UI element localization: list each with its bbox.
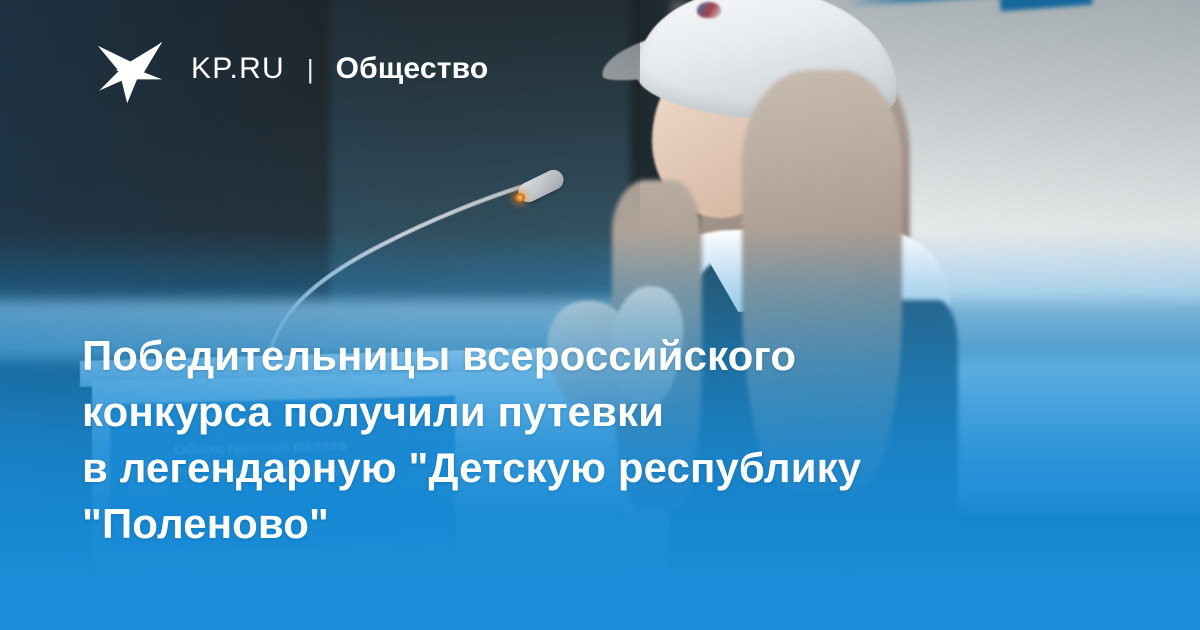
brand-header: KP.RU | Общество [95, 36, 488, 106]
social-share-card: Общественная палата Российской Федерации [0, 0, 1200, 630]
headline-line-1: Победительницы всероссийского [82, 328, 1092, 384]
headline-line-3: в легендарную "Детскую республику [82, 440, 1092, 496]
rubric-label[interactable]: Общество [336, 52, 489, 86]
brand-text-row: KP.RU | Общество [191, 52, 488, 90]
swallow-bird-logo-icon[interactable] [95, 36, 165, 106]
brand-separator: | [307, 54, 314, 85]
brand-name[interactable]: KP.RU [191, 52, 285, 86]
speaker-cap-logo-icon [697, 2, 721, 18]
headline-line-2: конкурса получили путевки [82, 384, 1092, 440]
headline: Победительницы всероссийского конкурса п… [82, 328, 1092, 552]
headline-line-4: "Поленово" [82, 496, 1092, 552]
